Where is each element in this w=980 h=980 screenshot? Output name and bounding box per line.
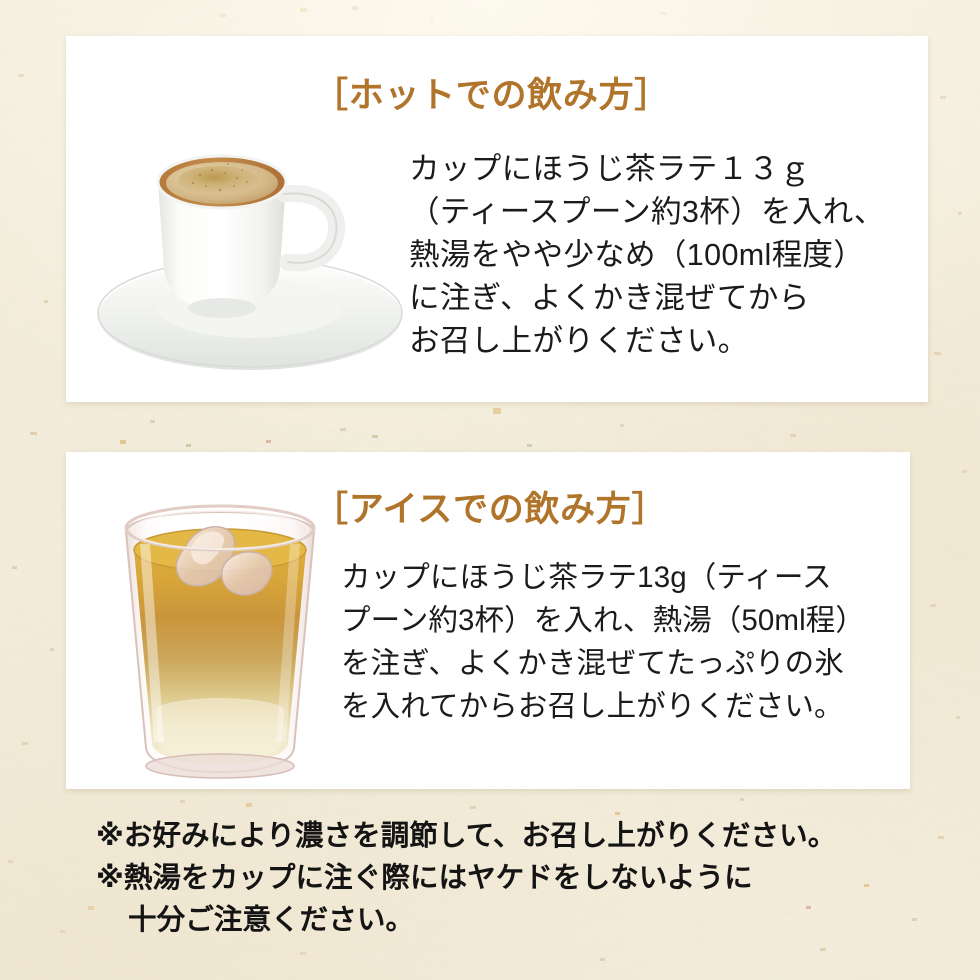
footer-note-line: ※お好みにより濃さを調節して、お召し上がりください。 xyxy=(96,815,836,857)
card-hot-body-text: カップにほうじ茶ラテ１３ｇ （ティースプーン約3杯）を入れ、 熱湯をやや少なめ（… xyxy=(409,148,885,363)
page-root: ［ホットでの飲み方］ カップにほうじ茶ラテ１３ｇ （ティースプーン約3杯）を入れ… xyxy=(0,0,980,980)
card-hot-heading: ［ホットでの飲み方］ xyxy=(313,78,670,113)
card-iced-body-line: カップにほうじ茶ラテ13g（ティース xyxy=(341,556,865,599)
iced-latte-glass-photo xyxy=(104,498,336,780)
card-iced-body-line: を入れてからお召し上がりください。 xyxy=(341,685,865,728)
footer-note-line: 十分ご注意ください。 xyxy=(96,899,836,941)
hot-coffee-cup-photo xyxy=(92,120,422,376)
card-iced-instructions: ［アイスでの飲み方］ カップにほうじ茶ラテ13g（ティース プーン約3杯）を入れ… xyxy=(66,452,910,789)
card-iced-body-line: プーン約3杯）を入れ、熱湯（50ml程） xyxy=(341,599,865,642)
card-hot-body-line: （ティースプーン約3杯）を入れ、 xyxy=(409,191,885,234)
card-iced-body-text: カップにほうじ茶ラテ13g（ティース プーン約3杯）を入れ、熱湯（50ml程） … xyxy=(341,556,865,728)
card-hot-body-line: に注ぎ、よくかき混ぜてから xyxy=(409,277,885,320)
card-hot-instructions: ［ホットでの飲み方］ カップにほうじ茶ラテ１３ｇ （ティースプーン約3杯）を入れ… xyxy=(66,36,928,402)
card-iced-body-line: を注ぎ、よくかき混ぜてたっぷりの氷 xyxy=(341,642,865,685)
card-hot-body-line: お召し上がりください。 xyxy=(409,320,885,363)
footer-notes: ※お好みにより濃さを調節して、お召し上がりください。 ※熱湯をカップに注ぐ際には… xyxy=(96,815,836,941)
card-hot-body-line: カップにほうじ茶ラテ１３ｇ xyxy=(409,148,885,191)
card-iced-heading: ［アイスでの飲み方］ xyxy=(313,492,667,527)
card-hot-body-line: 熱湯をやや少なめ（100ml程度） xyxy=(409,234,885,277)
footer-note-line: ※熱湯をカップに注ぐ際にはヤケドをしないように xyxy=(96,857,836,899)
